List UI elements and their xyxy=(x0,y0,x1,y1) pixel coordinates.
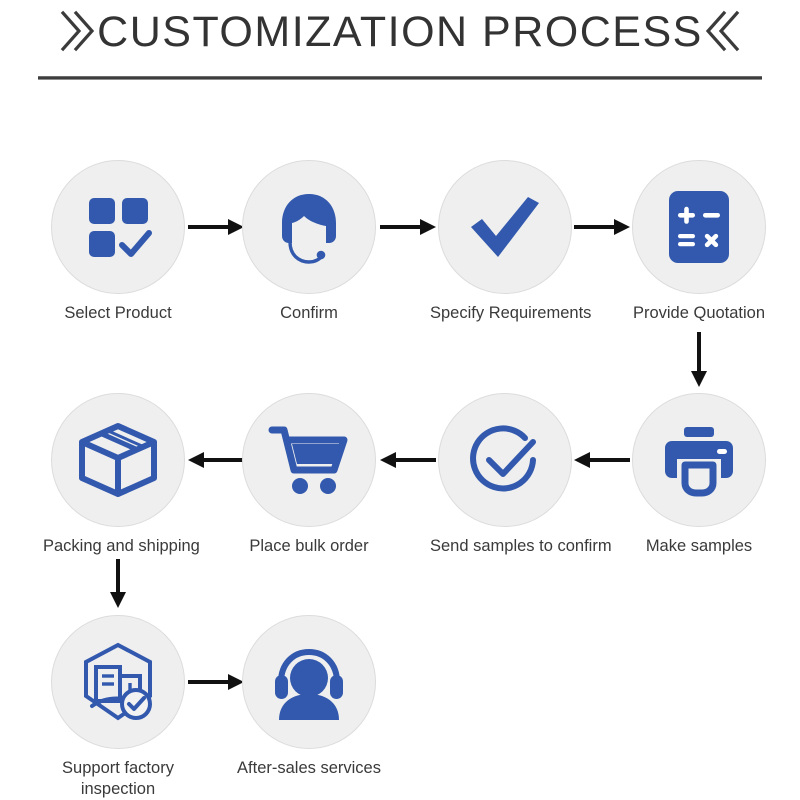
double-chevron-left-icon xyxy=(703,8,743,54)
step-icon-circle xyxy=(242,615,376,749)
step-node-confirm[interactable]: Confirm xyxy=(234,160,384,324)
step-label: Support factory inspection xyxy=(43,758,193,799)
grid-squares-check-icon xyxy=(81,190,155,264)
arrow-right-3-4 xyxy=(572,218,632,236)
arrow-down-4-5 xyxy=(689,330,709,388)
step-node-send-samples-to-confirm[interactable]: Send samples to confirm xyxy=(430,393,580,557)
arrow-down-8-9 xyxy=(108,557,128,609)
step-node-make-samples[interactable]: Make samples xyxy=(624,393,774,557)
title-row: CUSTOMIZATION PROCESS xyxy=(0,8,800,57)
step-label: Specify Requirements xyxy=(430,303,580,324)
step-node-select-product[interactable]: Select Product xyxy=(43,160,193,324)
package-box-icon xyxy=(76,420,160,500)
arrow-right-2-3 xyxy=(378,218,438,236)
step-node-provide-quotation[interactable]: Provide Quotation xyxy=(624,160,774,324)
check-circle-outline-icon xyxy=(463,418,547,502)
step-label: Provide Quotation xyxy=(624,303,774,324)
step-icon-circle xyxy=(242,393,376,527)
step-icon-circle xyxy=(51,615,185,749)
customization-process-infographic: CUSTOMIZATION PROCESS xyxy=(0,0,800,800)
step-label: Place bulk order xyxy=(234,536,384,557)
step-node-support-factory-inspection[interactable]: Support factory inspection xyxy=(43,615,193,799)
step-label: Send samples to confirm xyxy=(430,536,580,557)
step-node-packing-and-shipping[interactable]: Packing and shipping xyxy=(43,393,193,557)
step-node-specify-requirements[interactable]: Specify Requirements xyxy=(430,160,580,324)
printer-icon xyxy=(659,423,739,497)
step-node-after-sales-services[interactable]: After-sales services xyxy=(234,615,384,779)
step-icon-circle xyxy=(438,393,572,527)
step-icon-circle xyxy=(438,160,572,294)
step-label: After-sales services xyxy=(234,758,384,779)
checkmark-icon xyxy=(465,187,545,267)
step-label: Packing and shipping xyxy=(43,536,193,557)
double-chevron-right-icon xyxy=(57,8,97,54)
step-label: Confirm xyxy=(234,303,384,324)
step-node-place-bulk-order[interactable]: Place bulk order xyxy=(234,393,384,557)
factory-shield-check-icon xyxy=(76,640,160,724)
headset-agent-icon xyxy=(268,186,350,268)
step-icon-circle xyxy=(242,160,376,294)
headphones-person-icon xyxy=(267,642,351,722)
step-icon-circle xyxy=(51,160,185,294)
step-label: Select Product xyxy=(43,303,193,324)
step-icon-circle xyxy=(51,393,185,527)
step-icon-circle xyxy=(632,160,766,294)
shopping-cart-icon xyxy=(268,422,350,498)
title-divider xyxy=(38,76,762,80)
calculator-icon xyxy=(663,187,735,267)
page-header: CUSTOMIZATION PROCESS xyxy=(0,0,800,95)
page-title: CUSTOMIZATION PROCESS xyxy=(97,8,703,57)
step-label: Make samples xyxy=(624,536,774,557)
step-icon-circle xyxy=(632,393,766,527)
arrow-left-6-7 xyxy=(378,451,438,469)
arrow-left-5-6 xyxy=(572,451,632,469)
